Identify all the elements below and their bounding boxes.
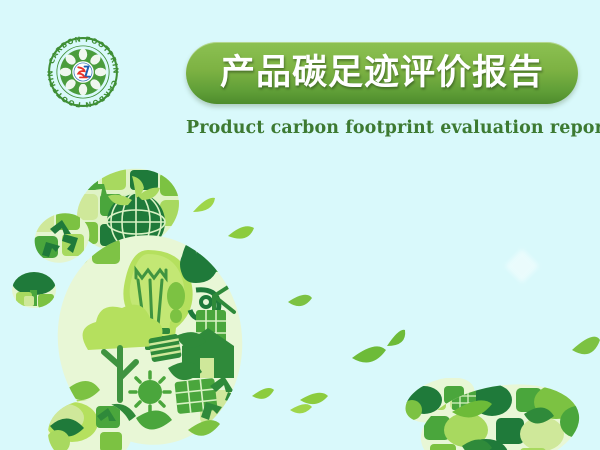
tree-icon (12, 269, 56, 308)
report-cover-page: CARBON FOOTPRINT · CARBON FOOTPRINT · (0, 0, 600, 450)
leaf-icon (387, 330, 405, 346)
leaf-icon (228, 226, 254, 238)
leaf-icon (290, 404, 312, 413)
page-subtitle: Product carbon footprint evaluation repo… (186, 118, 578, 138)
sun-icon (130, 372, 170, 412)
cover-header: CARBON FOOTPRINT · CARBON FOOTPRINT · (0, 0, 600, 160)
title-banner: 产品碳足迹评价报告 (186, 42, 578, 104)
carbon-footprint-seal: CARBON FOOTPRINT · CARBON FOOTPRINT · (44, 33, 122, 111)
battery-icon (148, 334, 182, 363)
footprint-small-toe (10, 269, 60, 312)
leaf-icon (352, 346, 386, 362)
leaf-icon (572, 337, 600, 355)
eco-icons-footprint-illustration (0, 150, 600, 450)
page-title: 产品碳足迹评价报告 (220, 56, 544, 91)
leaf-icon (288, 295, 312, 306)
leaf-icon (193, 198, 215, 212)
leaf-icon (300, 393, 328, 404)
leaf-icon (252, 388, 274, 399)
